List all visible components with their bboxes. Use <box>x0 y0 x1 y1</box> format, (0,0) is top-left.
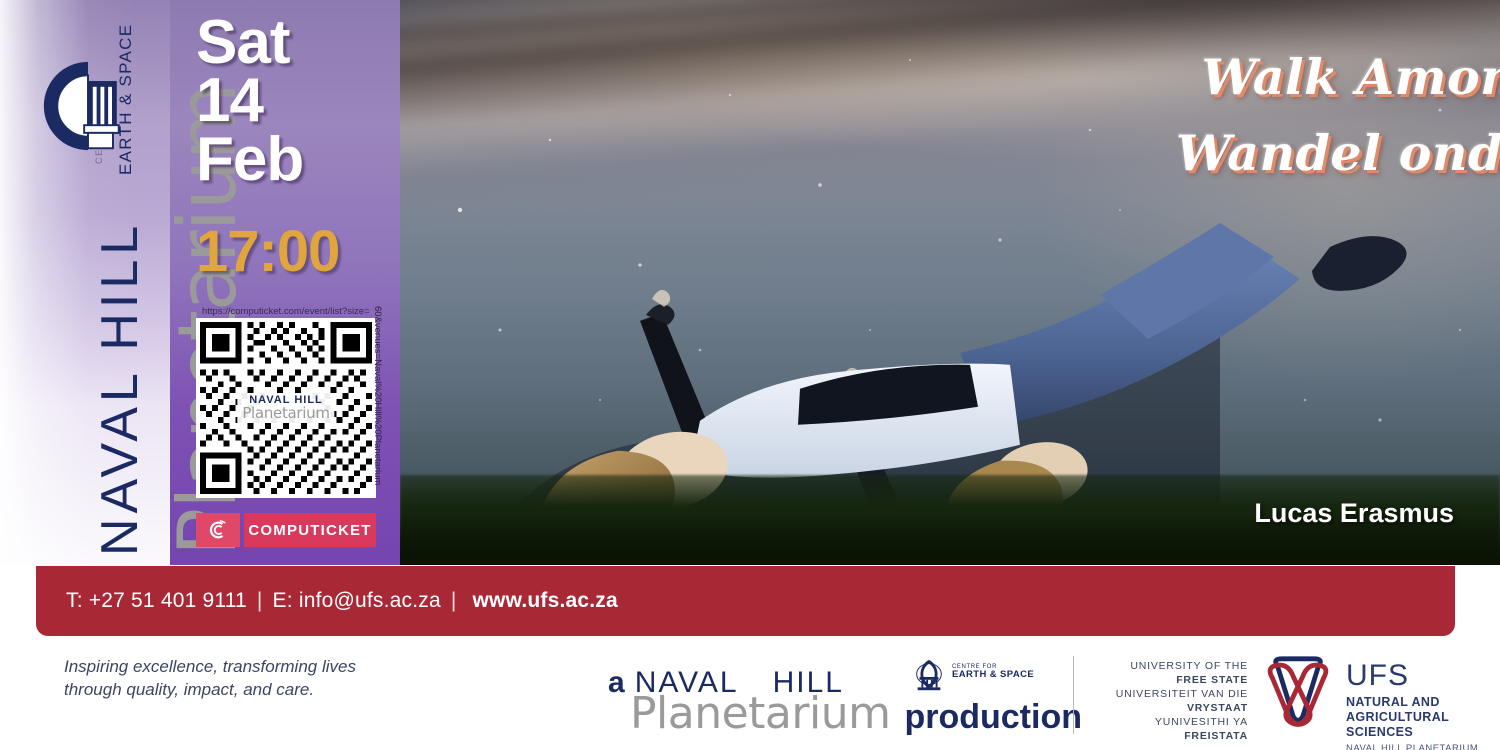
ufs-faculty-line-1: NATURAL AND <box>1346 695 1480 710</box>
production-credit-lockup: a NAVAL HILL CENTRE FOR EARTH & SPACE <box>600 652 1070 738</box>
event-date-block: Sat 14 Feb 17:00 <box>196 14 386 281</box>
ufs-logo-lockup: UNIVERSITY OF THE FREE STATE UNIVERSITEI… <box>1100 654 1480 740</box>
contact-separator-1: | <box>247 589 273 613</box>
qr-url-side-label: 60&venues=Naval%20Hill%20Planetarium <box>372 306 383 485</box>
presenter-name: Lucas Erasmus <box>1254 498 1454 529</box>
contact-email[interactable]: E: info@ufs.ac.za <box>273 589 441 613</box>
ufs-name-line-5: YUNIVESITHI YA <box>1100 716 1248 730</box>
ufs-faculty-line-2: AGRICULTURAL SCIENCES <box>1346 710 1480 740</box>
event-day-name: Sat <box>196 14 386 72</box>
planetarium-dome-icon <box>40 58 136 154</box>
ufs-name-line-6: FREISTATA <box>1100 730 1248 744</box>
computicket-c-icon <box>196 513 240 547</box>
ufs-name-line-2: FREE STATE <box>1100 674 1248 688</box>
computicket-badge[interactable]: COMPUTICKET <box>196 513 376 547</box>
left-brand-panel: Planetarium NAVAL HILL 2026 CENTRE FOR E… <box>0 0 400 565</box>
brand-naval-hill-text: NAVAL HILL <box>90 221 150 556</box>
show-title-block: Walk Amongst the Stars Wandel onder die … <box>1040 48 1500 184</box>
ufs-tagline: Inspiring excellence, transforming lives… <box>64 656 356 702</box>
qr-center-line2: Planetarium <box>242 406 329 421</box>
qr-code-icon[interactable]: NAVAL HILL Planetarium <box>196 318 376 498</box>
ufs-acronym-block: UFS NATURAL AND AGRICULTURAL SCIENCES NA… <box>1346 658 1480 750</box>
event-poster: Planetarium NAVAL HILL 2026 CENTRE FOR E… <box>0 0 1500 750</box>
contact-phone[interactable]: T: +27 51 401 9111 <box>66 589 247 613</box>
tagline-line-2: through quality, impact, and care. <box>64 679 356 702</box>
event-month: Feb <box>196 131 386 189</box>
footer: Inspiring excellence, transforming lives… <box>0 640 1500 750</box>
contact-separator-2: | <box>441 589 467 613</box>
show-title-english: Walk Amongst the Stars <box>1040 48 1500 108</box>
event-time: 17:00 <box>196 223 386 281</box>
ufs-v-shield-icon <box>1258 654 1338 734</box>
ufs-university-names: UNIVERSITY OF THE FREE STATE UNIVERSITEI… <box>1100 660 1248 744</box>
production-centre-text: CENTRE FOR EARTH & SPACE <box>952 664 1034 680</box>
footer-divider <box>1073 656 1074 734</box>
ufs-name-line-3: UNIVERSITEIT VAN DIE <box>1100 688 1248 702</box>
ufs-name-line-4: VRYSTAAT <box>1100 702 1248 716</box>
contact-details: T: +27 51 401 9111 | E: info@ufs.ac.za |… <box>66 589 618 613</box>
hero-photo: Walk Amongst the Stars Wandel onder die … <box>400 0 1500 565</box>
contact-website[interactable]: www.ufs.ac.za <box>467 589 618 613</box>
ufs-name-line-1: UNIVERSITY OF THE <box>1100 660 1248 674</box>
production-row-bottom: Planetarium production <box>630 692 1082 736</box>
ufs-acronym: UFS <box>1346 658 1480 693</box>
qr-center-logo: NAVAL HILL Planetarium <box>237 393 334 423</box>
event-day-number: 14 <box>196 72 386 130</box>
production-earth-space: EARTH & SPACE <box>952 670 1034 680</box>
computicket-label: COMPUTICKET <box>244 513 376 547</box>
production-word: production <box>904 700 1082 734</box>
ufs-unit-name: NAVAL HILL PLANETARIUM <box>1346 743 1480 750</box>
qr-url-top-label: https://computicket.com/event/list?size= <box>202 306 370 317</box>
contact-bar: T: +27 51 401 9111 | E: info@ufs.ac.za |… <box>36 566 1455 636</box>
production-planetarium: Planetarium <box>630 692 890 736</box>
planetarium-dome-icon <box>905 658 953 694</box>
tagline-line-1: Inspiring excellence, transforming lives <box>64 656 356 679</box>
show-title-afrikaans: Wandel onder die Sterre. <box>1040 124 1500 184</box>
production-article: a <box>608 668 625 698</box>
